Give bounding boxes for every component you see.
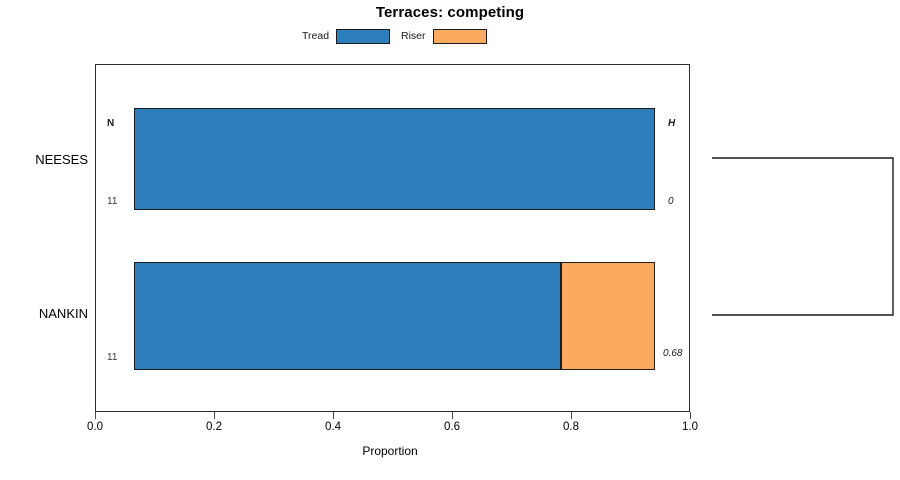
x-axis-title: Proportion bbox=[0, 444, 780, 458]
annotation-n-value: 11 bbox=[107, 352, 117, 363]
annotation-h-value: 0.68 bbox=[663, 348, 682, 359]
dendrogram-bracket bbox=[700, 60, 900, 420]
x-tick-mark bbox=[333, 412, 334, 419]
legend-entry-tread[interactable]: Tread bbox=[302, 27, 390, 45]
chart-legend: Tread Riser bbox=[0, 27, 900, 45]
legend-label-riser: Riser bbox=[401, 30, 426, 42]
legend-swatch-tread bbox=[336, 29, 390, 44]
annotation-header-h: H bbox=[668, 118, 675, 129]
x-tick-mark bbox=[95, 412, 96, 419]
x-tick-label: 0.6 bbox=[444, 421, 460, 433]
x-tick-mark bbox=[452, 412, 453, 419]
bar-segment-riser[interactable] bbox=[561, 262, 655, 370]
x-tick-mark bbox=[690, 412, 691, 419]
x-tick-label: 0.0 bbox=[87, 421, 103, 433]
legend-entry-riser[interactable]: Riser bbox=[401, 27, 487, 45]
dendrogram-join-path bbox=[712, 158, 893, 315]
x-tick-mark bbox=[571, 412, 572, 419]
legend-label-tread: Tread bbox=[302, 30, 329, 42]
bar-row[interactable] bbox=[134, 262, 655, 370]
bar-segment-tread[interactable] bbox=[134, 262, 561, 370]
y-axis-label-nankin: NANKIN bbox=[0, 306, 88, 321]
annotation-h-value: 0 bbox=[668, 196, 674, 207]
annotation-n-value: 11 bbox=[107, 196, 117, 207]
x-tick-label: 1.0 bbox=[682, 421, 698, 433]
x-tick-mark bbox=[214, 412, 215, 419]
annotation-header-n: N bbox=[107, 118, 114, 129]
chart-figure: Terraces: competing Tread Riser NEESES N… bbox=[0, 0, 900, 480]
x-tick-label: 0.2 bbox=[206, 421, 222, 433]
bar-row[interactable] bbox=[134, 108, 655, 210]
x-tick-label: 0.8 bbox=[563, 421, 579, 433]
bar-segment-tread[interactable] bbox=[134, 108, 655, 210]
chart-title: Terraces: competing bbox=[0, 4, 900, 21]
legend-swatch-riser bbox=[433, 29, 487, 44]
y-axis-label-neeses: NEESES bbox=[0, 152, 88, 167]
x-tick-label: 0.4 bbox=[325, 421, 341, 433]
dendrogram-bracket-svg bbox=[700, 60, 900, 420]
